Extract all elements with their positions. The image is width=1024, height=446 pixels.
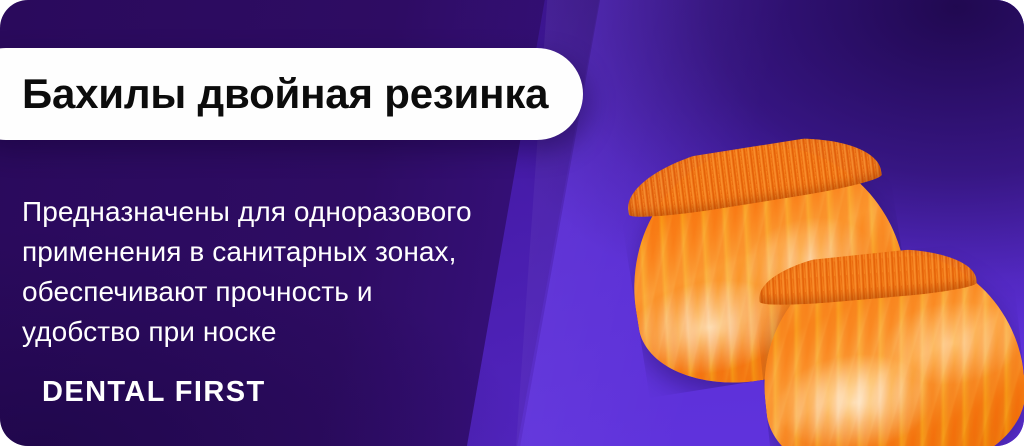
promo-banner: Бахилы двойная резинка Предназначены для… <box>0 0 1024 446</box>
description-line-3: обеспечивают прочность и <box>22 272 582 312</box>
description-line-1: Предназначены для одноразового <box>22 192 582 232</box>
page-title: Бахилы двойная резинка <box>22 73 548 115</box>
brand-name: DENTAL FIRST <box>42 378 266 407</box>
description-text: Предназначены для одноразового применени… <box>22 192 582 352</box>
title-pill: Бахилы двойная резинка <box>0 48 583 140</box>
description-line-2: применения в санитарных зонах, <box>22 232 582 272</box>
description-line-4: удобство при носке <box>22 312 582 352</box>
